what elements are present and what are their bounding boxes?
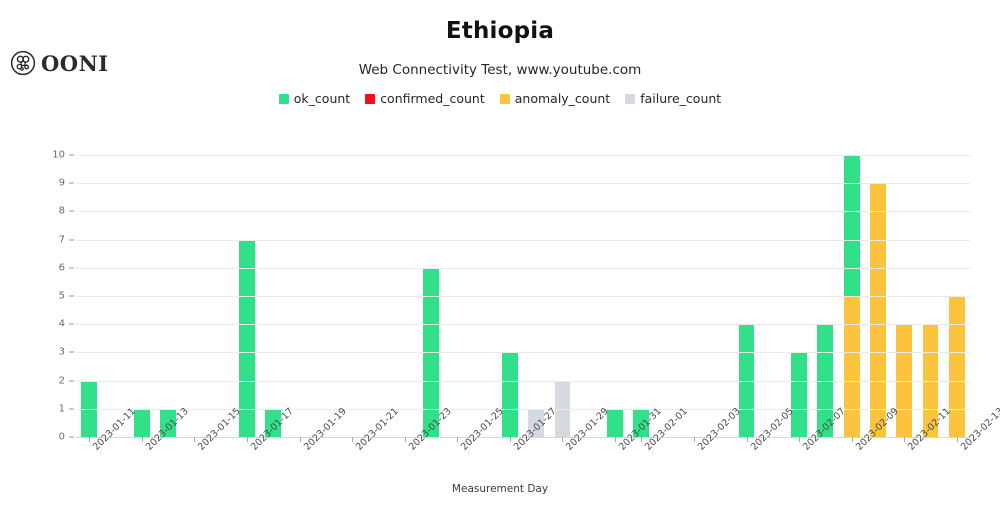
- x-tick-mark: [747, 437, 748, 442]
- y-tick-mark: [69, 155, 74, 156]
- x-tick-mark: [352, 437, 353, 442]
- bar-segment[interactable]: [791, 352, 807, 437]
- y-tick-label: 0: [43, 432, 65, 443]
- x-tick-mark: [694, 437, 695, 442]
- x-tick-mark: [89, 437, 90, 442]
- y-tick-mark: [69, 380, 74, 381]
- y-gridline: [76, 352, 970, 353]
- y-tick-label: 5: [43, 291, 65, 302]
- y-tick-label: 2: [43, 375, 65, 386]
- y-tick-mark: [69, 239, 74, 240]
- y-gridline: [76, 183, 970, 184]
- plot-container: 2023-01-112023-01-132023-01-152023-01-17…: [0, 0, 1000, 527]
- x-tick-mark: [562, 437, 563, 442]
- y-tick-label: 8: [43, 206, 65, 217]
- x-tick-mark: [142, 437, 143, 442]
- y-gridline: [76, 381, 970, 382]
- x-tick-mark: [904, 437, 905, 442]
- x-tick-mark: [641, 437, 642, 442]
- y-tick-label: 1: [43, 403, 65, 414]
- y-tick-mark: [69, 324, 74, 325]
- y-tick-mark: [69, 437, 74, 438]
- x-tick-mark: [799, 437, 800, 442]
- x-tick-mark: [615, 437, 616, 442]
- y-tick-label: 10: [43, 150, 65, 161]
- y-tick-label: 3: [43, 347, 65, 358]
- x-axis-title: Measurement Day: [0, 483, 1000, 495]
- x-tick-mark: [194, 437, 195, 442]
- y-gridline: [76, 268, 970, 269]
- y-tick-label: 6: [43, 262, 65, 273]
- chart-page: OONI Ethiopia Web Connectivity Test, www…: [0, 0, 1000, 527]
- bar-segment[interactable]: [844, 296, 860, 437]
- y-tick-label: 7: [43, 234, 65, 245]
- x-tick-mark: [957, 437, 958, 442]
- x-tick-mark: [510, 437, 511, 442]
- x-tick-mark: [247, 437, 248, 442]
- y-gridline: [76, 240, 970, 241]
- x-tick-mark: [300, 437, 301, 442]
- x-tick-mark: [405, 437, 406, 442]
- x-tick-mark: [457, 437, 458, 442]
- x-tick-mark: [852, 437, 853, 442]
- y-tick-label: 9: [43, 178, 65, 189]
- y-gridline: [76, 296, 970, 297]
- bar-segment[interactable]: [870, 183, 886, 437]
- y-tick-mark: [69, 211, 74, 212]
- y-gridline: [76, 155, 970, 156]
- y-gridline: [76, 211, 970, 212]
- y-gridline: [76, 324, 970, 325]
- plot-area: [76, 155, 970, 437]
- bar-segment[interactable]: [844, 155, 860, 296]
- y-tick-label: 4: [43, 319, 65, 330]
- bar-segment[interactable]: [239, 240, 255, 437]
- y-tick-mark: [69, 352, 74, 353]
- bar-segment[interactable]: [949, 296, 965, 437]
- y-tick-mark: [69, 408, 74, 409]
- y-tick-mark: [69, 183, 74, 184]
- y-tick-mark: [69, 296, 74, 297]
- bar-segment[interactable]: [502, 352, 518, 437]
- y-tick-mark: [69, 267, 74, 268]
